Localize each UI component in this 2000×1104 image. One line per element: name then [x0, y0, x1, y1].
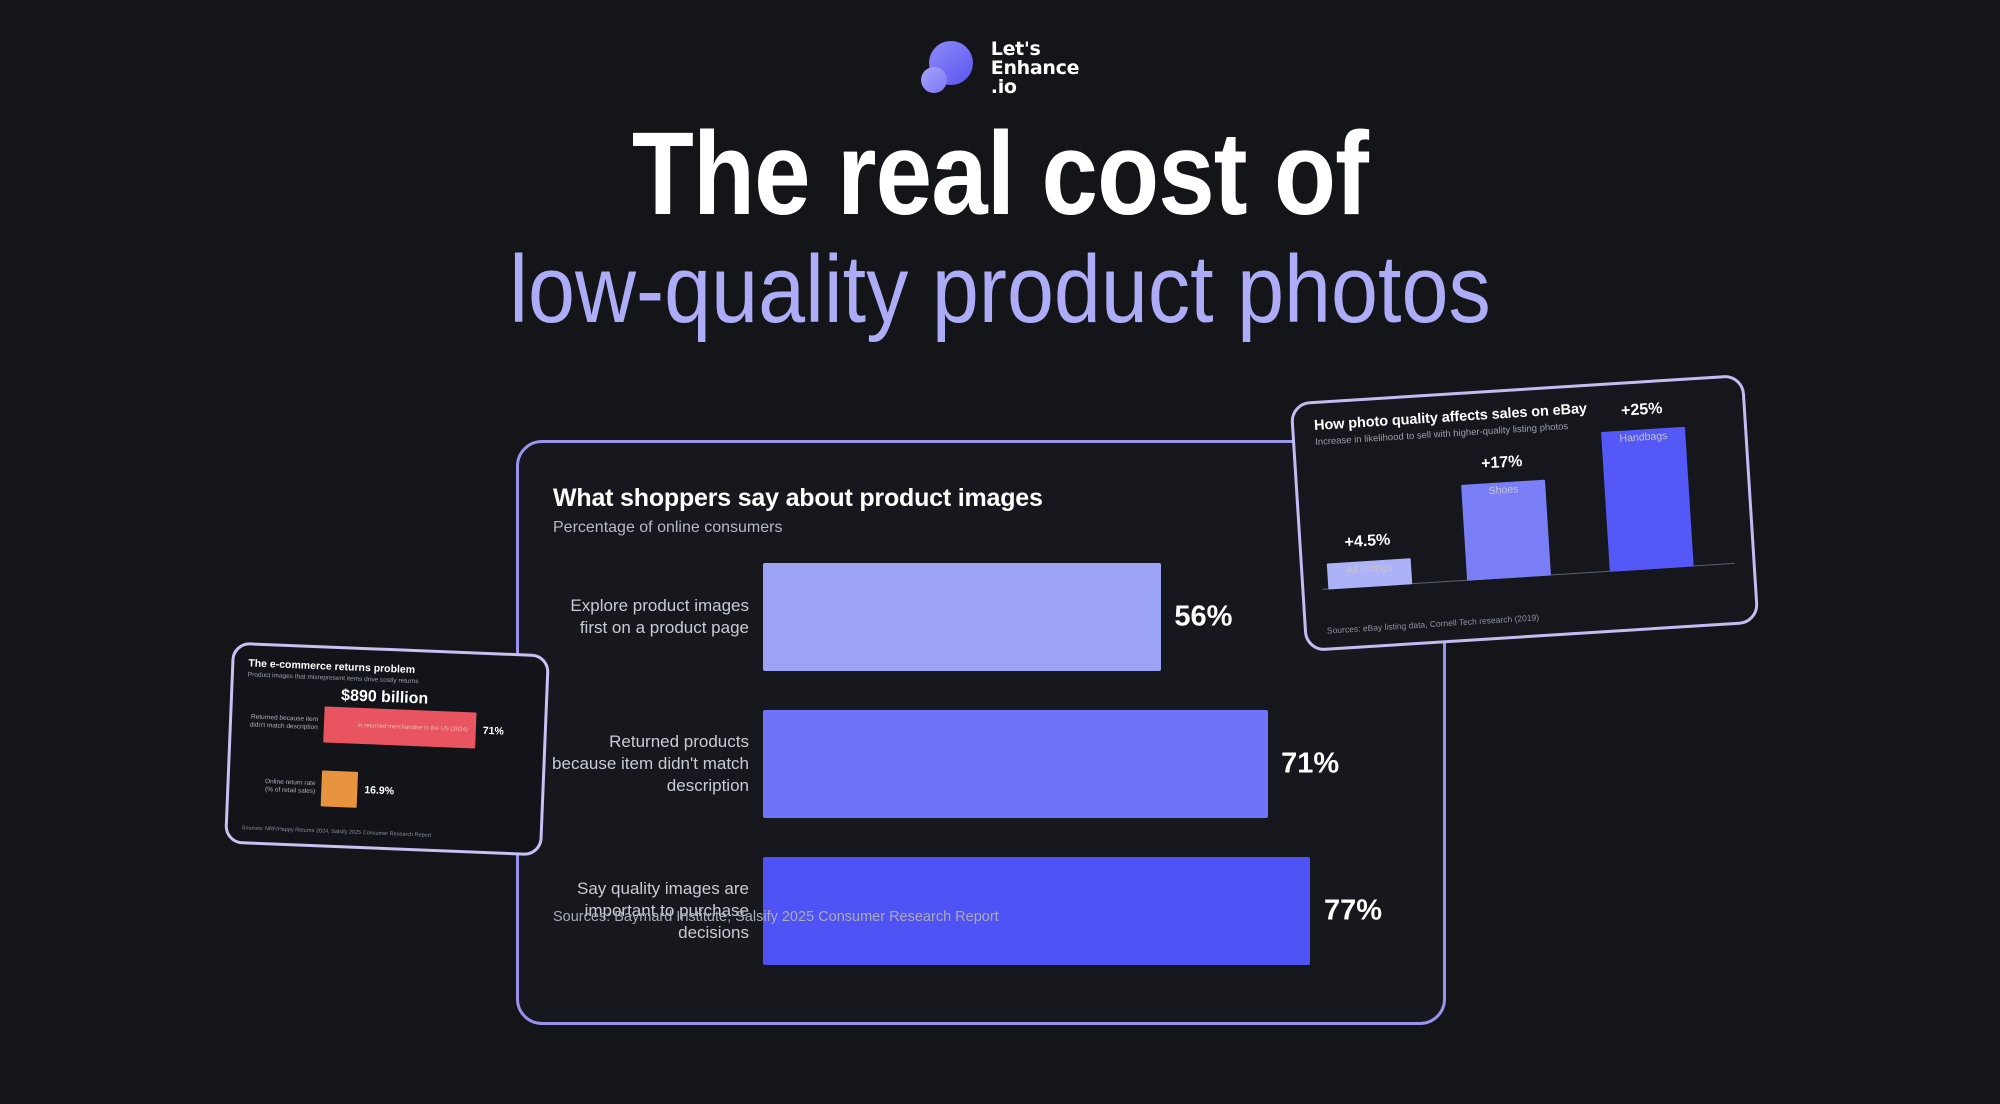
bar-value-label: 56% — [1174, 601, 1232, 634]
returns-bar-value-label: 16.9% — [364, 784, 394, 797]
ebay-bar-chart: +4.5% All listings +17% Shoes +25% Handb… — [1314, 432, 1736, 616]
ebay-bar-group: +17% Shoes — [1461, 480, 1551, 581]
returns-bar-value-label: 71% — [483, 725, 504, 738]
lets-enhance-blob-logo-icon — [921, 41, 977, 97]
returns-chart-card: The e-commerce returns problem Product i… — [224, 642, 550, 857]
headline-line-2: low-quality product photos — [120, 230, 1880, 350]
returns-callout-value: $890 billion — [341, 687, 429, 708]
headline-line-1: The real cost of — [140, 118, 1860, 230]
bar-row: Returned products because item didn't ma… — [519, 710, 1443, 818]
brand-wordmark: Let's Enhance .io — [991, 40, 1079, 97]
returns-bar-label: Online return rate (% of retail sales) — [237, 777, 316, 797]
bar-fill — [763, 710, 1268, 818]
returns-bar-row: Returned because item didn't match descr… — [239, 703, 504, 750]
ebay-bar-fill — [1601, 427, 1694, 572]
ebay-chart-sources: Sources: eBay listing data, Cornell Tech… — [1327, 612, 1540, 635]
brand-logo: Let's Enhance .io — [0, 40, 2000, 97]
returns-bar-label-line2: (% of retail sales) — [237, 785, 315, 797]
brand-name-line3: .io — [991, 78, 1079, 97]
infographic-canvas: Let's Enhance .io The real cost of low-q… — [0, 0, 2000, 1104]
ebay-bar-group: +25% Handbags — [1601, 427, 1694, 572]
bar-value-label: 77% — [1324, 895, 1382, 928]
ebay-bar-value-label: +25% — [1599, 399, 1684, 422]
shoppers-chart-title: What shoppers say about product images — [553, 484, 1043, 513]
returns-bar-fill: in returned merchandise in the US (2024) — [323, 706, 476, 748]
bar-fill — [763, 563, 1161, 671]
bar-track: 71% — [763, 710, 1443, 818]
ebay-bar-value-label: +4.5% — [1325, 530, 1410, 553]
page-title: The real cost of low-quality product pho… — [0, 118, 2000, 350]
bar-label: Returned products because item didn't ma… — [549, 731, 749, 797]
ebay-bar-group: +4.5% All listings — [1327, 558, 1412, 589]
shoppers-chart-sources: Sources: Baymard Institute, Salsify 2025… — [553, 909, 999, 925]
bar-label: Explore product images first on a produc… — [549, 595, 749, 639]
ebay-chart-card: How photo quality affects sales on eBay … — [1290, 374, 1760, 652]
returns-bar-row: Online return rate (% of retail sales) 1… — [237, 767, 395, 809]
returns-callout-note: in returned merchandise in the US (2024) — [358, 723, 468, 733]
returns-bar-label: Returned because item didn't match descr… — [240, 713, 319, 733]
shoppers-chart-subtitle: Percentage of online consumers — [553, 519, 782, 537]
logo-blob-small — [921, 67, 947, 93]
ebay-bar-value-label: +17% — [1459, 452, 1544, 475]
returns-chart-sources: Sources: NRF/Happy Returns 2024, Salsify… — [242, 825, 432, 839]
returns-bar-fill — [321, 770, 358, 807]
bar-value-label: 71% — [1281, 748, 1339, 781]
